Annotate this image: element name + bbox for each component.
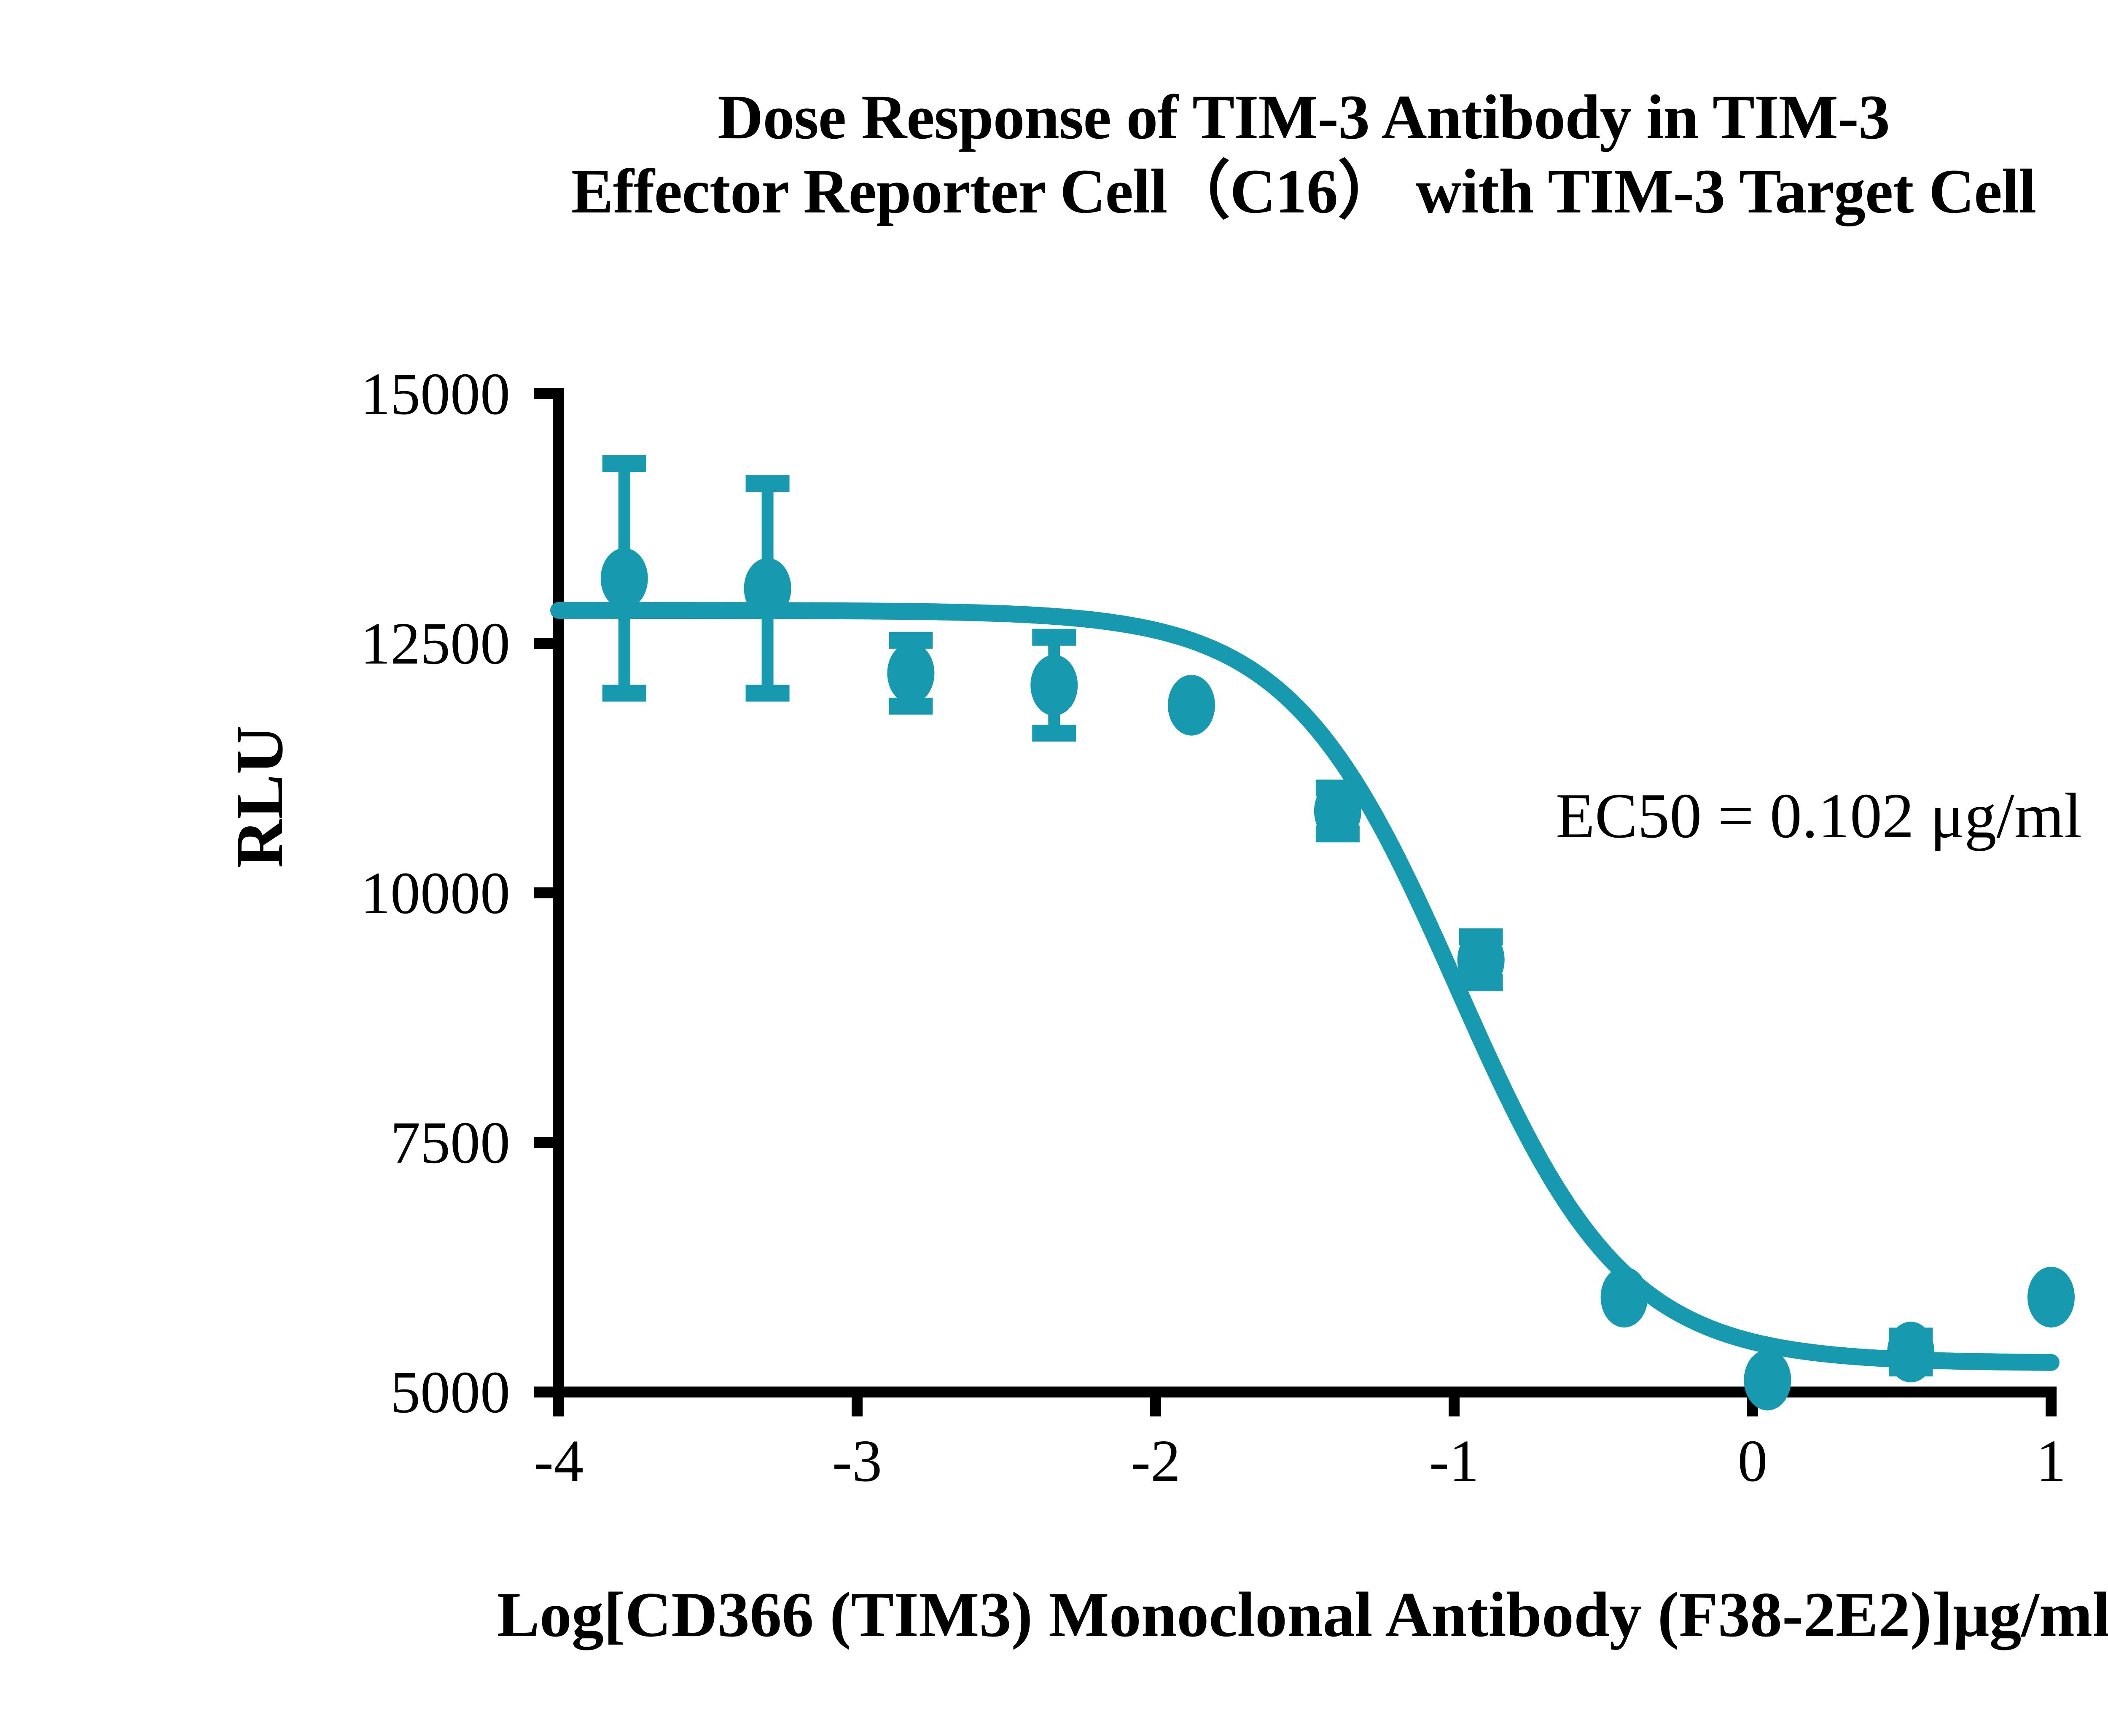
data-markers xyxy=(601,548,2075,1411)
data-point-marker xyxy=(1744,1350,1791,1411)
data-point-marker xyxy=(1030,655,1078,715)
data-point-marker xyxy=(1887,1322,1934,1382)
plot-canvas xyxy=(0,0,2108,1736)
data-point-marker xyxy=(887,643,934,704)
data-point-marker xyxy=(1601,1267,1648,1328)
logistic-fit-line xyxy=(559,610,2051,1362)
data-point-marker xyxy=(1314,781,1361,841)
chart-figure: Dose Response of TIM-3 Antibody in TIM-3… xyxy=(0,0,2108,1736)
data-point-marker xyxy=(601,548,648,609)
error-bars xyxy=(602,464,1933,1368)
fit-curve xyxy=(559,610,2051,1362)
data-point-marker xyxy=(744,558,791,619)
data-point-marker xyxy=(2027,1267,2075,1328)
data-point-marker xyxy=(1168,675,1215,736)
data-point-marker xyxy=(1457,930,1505,990)
